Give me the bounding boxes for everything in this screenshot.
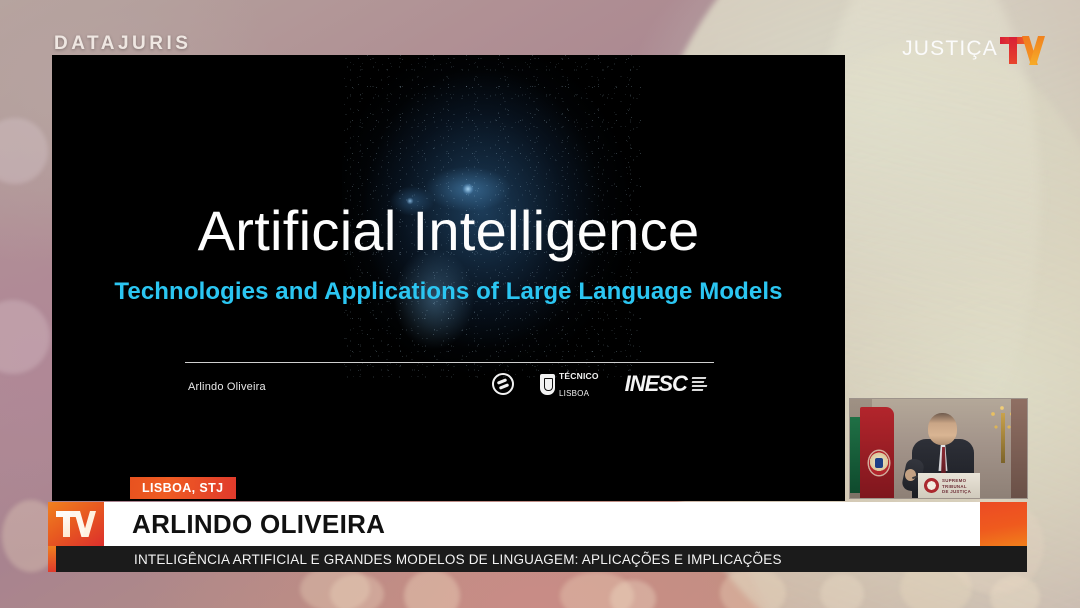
speaker-hand: [905, 469, 916, 481]
portugal-flag-crest-icon: [869, 451, 889, 475]
justica-ta-logo: JUSTIÇA: [902, 34, 1052, 64]
ta-logo-block: [48, 502, 104, 546]
justica-wordmark: JUSTIÇA: [902, 37, 998, 61]
tecnico-line2: LISBOA: [559, 389, 589, 398]
inesc-wordmark: INESC: [625, 371, 687, 397]
slide-author: Arlindo Oliveira: [188, 381, 266, 393]
portugal-flag-green: [850, 417, 860, 493]
lower-third-orange-block: [980, 502, 1027, 546]
tecnico-line1: TÉCNICO: [559, 371, 599, 381]
tecnico-lisboa-logo-icon: TÉCNICO LISBOA: [540, 367, 599, 401]
location-badge: LISBOA, STJ: [130, 477, 236, 499]
presentation-slide: Artificial Intelligence Technologies and…: [52, 55, 845, 501]
speaker-head: [928, 413, 957, 445]
ta-mark-icon: [1000, 34, 1052, 64]
pip-curtain-right: [1011, 399, 1027, 498]
podium-inscription: SUPREMO TRIBUNAL DE JUSTIÇA: [942, 478, 971, 495]
speaker-name: ARLINDO OLIVEIRA: [132, 502, 385, 546]
shield-icon: [540, 374, 555, 395]
inesc-logo-icon: INESC: [625, 371, 707, 397]
datajuris-watermark: DATAJURIS: [54, 33, 191, 55]
slide-divider: [185, 362, 714, 363]
speaker-video-pip[interactable]: SUPREMO TRIBUNAL DE JUSTIÇA: [849, 398, 1028, 499]
topic-bar-accent: [48, 546, 56, 572]
ulisboa-logo-icon: [492, 373, 514, 395]
broadcast-stage: DATAJURIS JUSTIÇA Artificial Intelligenc…: [0, 0, 1080, 608]
slide-logo-row: TÉCNICO LISBOA INESC: [492, 371, 707, 397]
slide-title: Artificial Intelligence: [52, 203, 845, 259]
stj-seal-icon: [924, 478, 939, 493]
topic-text: INTELIGÊNCIA ARTIFICIAL E GRANDES MODELO…: [134, 546, 782, 572]
podium-line3: DE JUSTIÇA: [942, 489, 971, 495]
podium: SUPREMO TRIBUNAL DE JUSTIÇA: [918, 473, 980, 499]
inesc-bars-icon: [692, 377, 707, 391]
slide-subtitle: Technologies and Applications of Large L…: [52, 278, 845, 306]
